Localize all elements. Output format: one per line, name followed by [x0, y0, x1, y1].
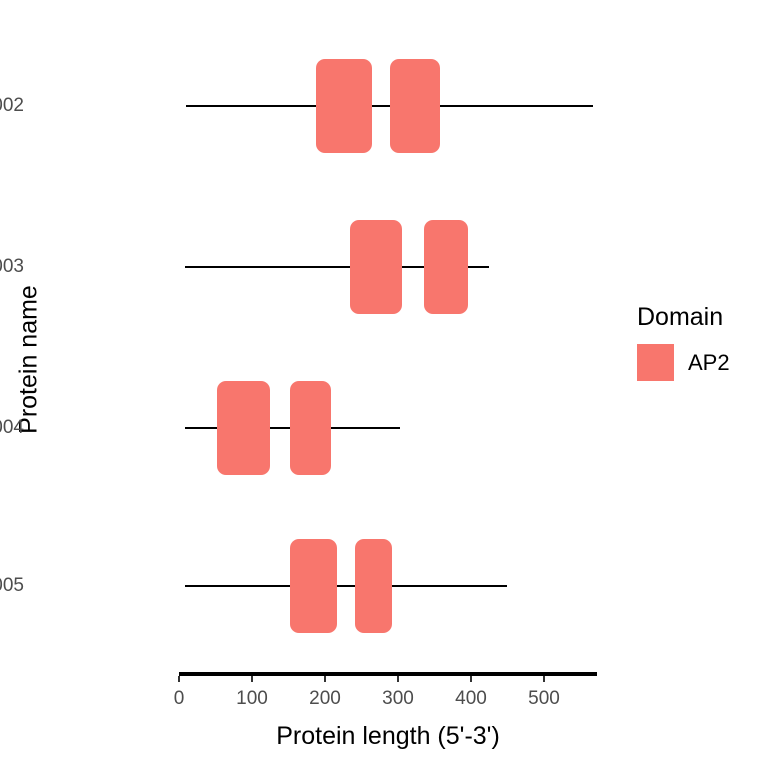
domain-block[interactable]: [316, 59, 371, 153]
x-axis-line: [179, 672, 597, 676]
x-axis-tick: [543, 676, 545, 682]
legend: Domain AP2: [637, 303, 768, 381]
domain-block[interactable]: [390, 59, 440, 153]
protein-backbone-line: [185, 585, 508, 587]
x-axis-tick-label: 300: [382, 688, 414, 710]
legend-title: Domain: [637, 303, 768, 332]
domain-block[interactable]: [424, 220, 468, 314]
x-axis-tick: [470, 676, 472, 682]
x-axis-tick-label: 0: [174, 688, 185, 710]
domain-block[interactable]: [290, 539, 337, 633]
x-axis-tick: [178, 676, 180, 682]
domain-block[interactable]: [290, 381, 331, 475]
protein-domain-chart: Protein name AtAP2_002AtAP2_003AtAP2_004…: [0, 0, 768, 768]
legend-items: AP2: [637, 344, 768, 381]
protein-row-label: AtAP2_003: [0, 256, 24, 278]
x-axis-tick: [251, 676, 253, 682]
legend-item[interactable]: AP2: [637, 344, 768, 381]
domain-block[interactable]: [217, 381, 270, 475]
protein-row-label: AtAP2_005: [0, 575, 24, 597]
plot-panel: AtAP2_002AtAP2_003AtAP2_004AtAP2_005: [0, 0, 620, 768]
protein-row-label: AtAP2_004: [0, 417, 24, 439]
x-axis-tick: [324, 676, 326, 682]
x-axis-tick-label: 500: [528, 688, 560, 710]
legend-swatch-icon: [637, 344, 674, 381]
domain-block[interactable]: [350, 220, 402, 314]
legend-item-label: AP2: [688, 350, 730, 376]
x-axis-tick-label: 200: [309, 688, 341, 710]
x-axis-tick-label: 100: [236, 688, 268, 710]
x-axis-tick-label: 400: [455, 688, 487, 710]
protein-row-label: AtAP2_002: [0, 95, 24, 117]
domain-block[interactable]: [355, 539, 392, 633]
x-axis-tick: [397, 676, 399, 682]
x-axis-title: Protein length (5'-3'): [179, 722, 597, 751]
